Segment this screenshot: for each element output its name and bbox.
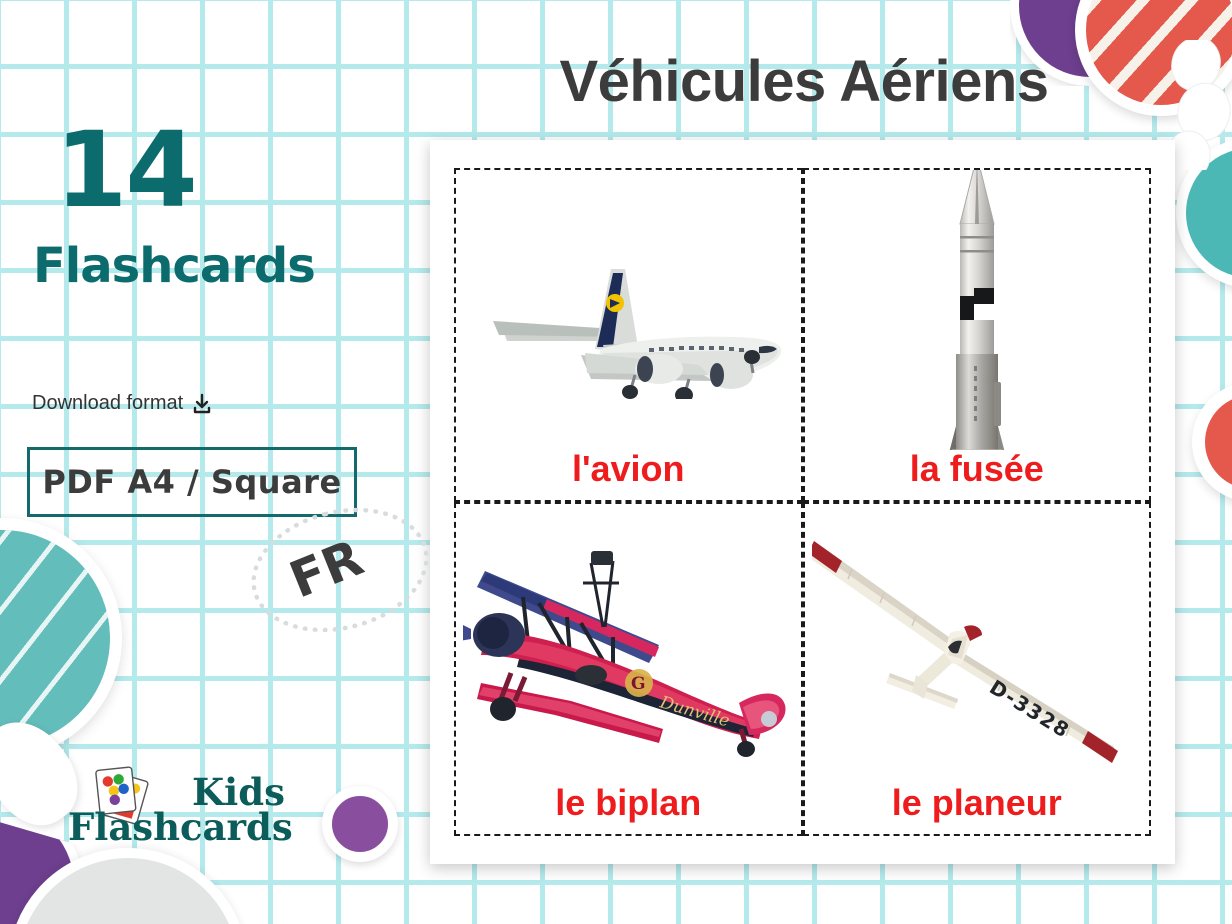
biplane-image: G Dunville	[462, 512, 795, 784]
brand-name-line2: Flashcards	[68, 809, 293, 846]
flashcard-count-number: 14	[55, 118, 196, 222]
download-format-row: Download format	[32, 392, 213, 415]
flashcard-label: le biplan	[555, 784, 701, 824]
flashcard-avion[interactable]: l'avion	[454, 168, 803, 502]
svg-text:D-3328: D-3328	[985, 675, 1074, 743]
svg-text:G: G	[631, 674, 646, 694]
download-format-label: Download format	[32, 392, 183, 415]
rocket-image	[811, 168, 1144, 450]
flashcards-panel: l'avion	[430, 140, 1175, 864]
download-icon	[191, 393, 213, 415]
page-title: Véhicules Aériens	[430, 48, 1178, 115]
flashcards-grid: l'avion	[454, 168, 1151, 836]
flashcard-label: la fusée	[910, 450, 1044, 490]
flashcard-count-label: Flashcards	[33, 242, 315, 290]
glider-image: D-3328	[811, 512, 1144, 784]
flashcard-planeur[interactable]: D-3328 le planeur	[803, 502, 1152, 836]
left-info-column: 14 Flashcards Download format PDF A4 / S…	[0, 0, 420, 924]
format-select-button[interactable]: PDF A4 / Square	[27, 447, 357, 517]
flashcard-fusee[interactable]: la fusée	[803, 168, 1152, 502]
language-badge: FR	[250, 510, 430, 630]
format-select-label: PDF A4 / Square	[42, 463, 341, 501]
brand-logo[interactable]: Kids Flashcards	[60, 762, 360, 852]
flashcard-label: le planeur	[892, 784, 1062, 824]
airliner-image	[462, 178, 795, 450]
flashcard-biplan[interactable]: G Dunville le biplan	[454, 502, 803, 836]
flashcard-label: l'avion	[572, 450, 685, 490]
